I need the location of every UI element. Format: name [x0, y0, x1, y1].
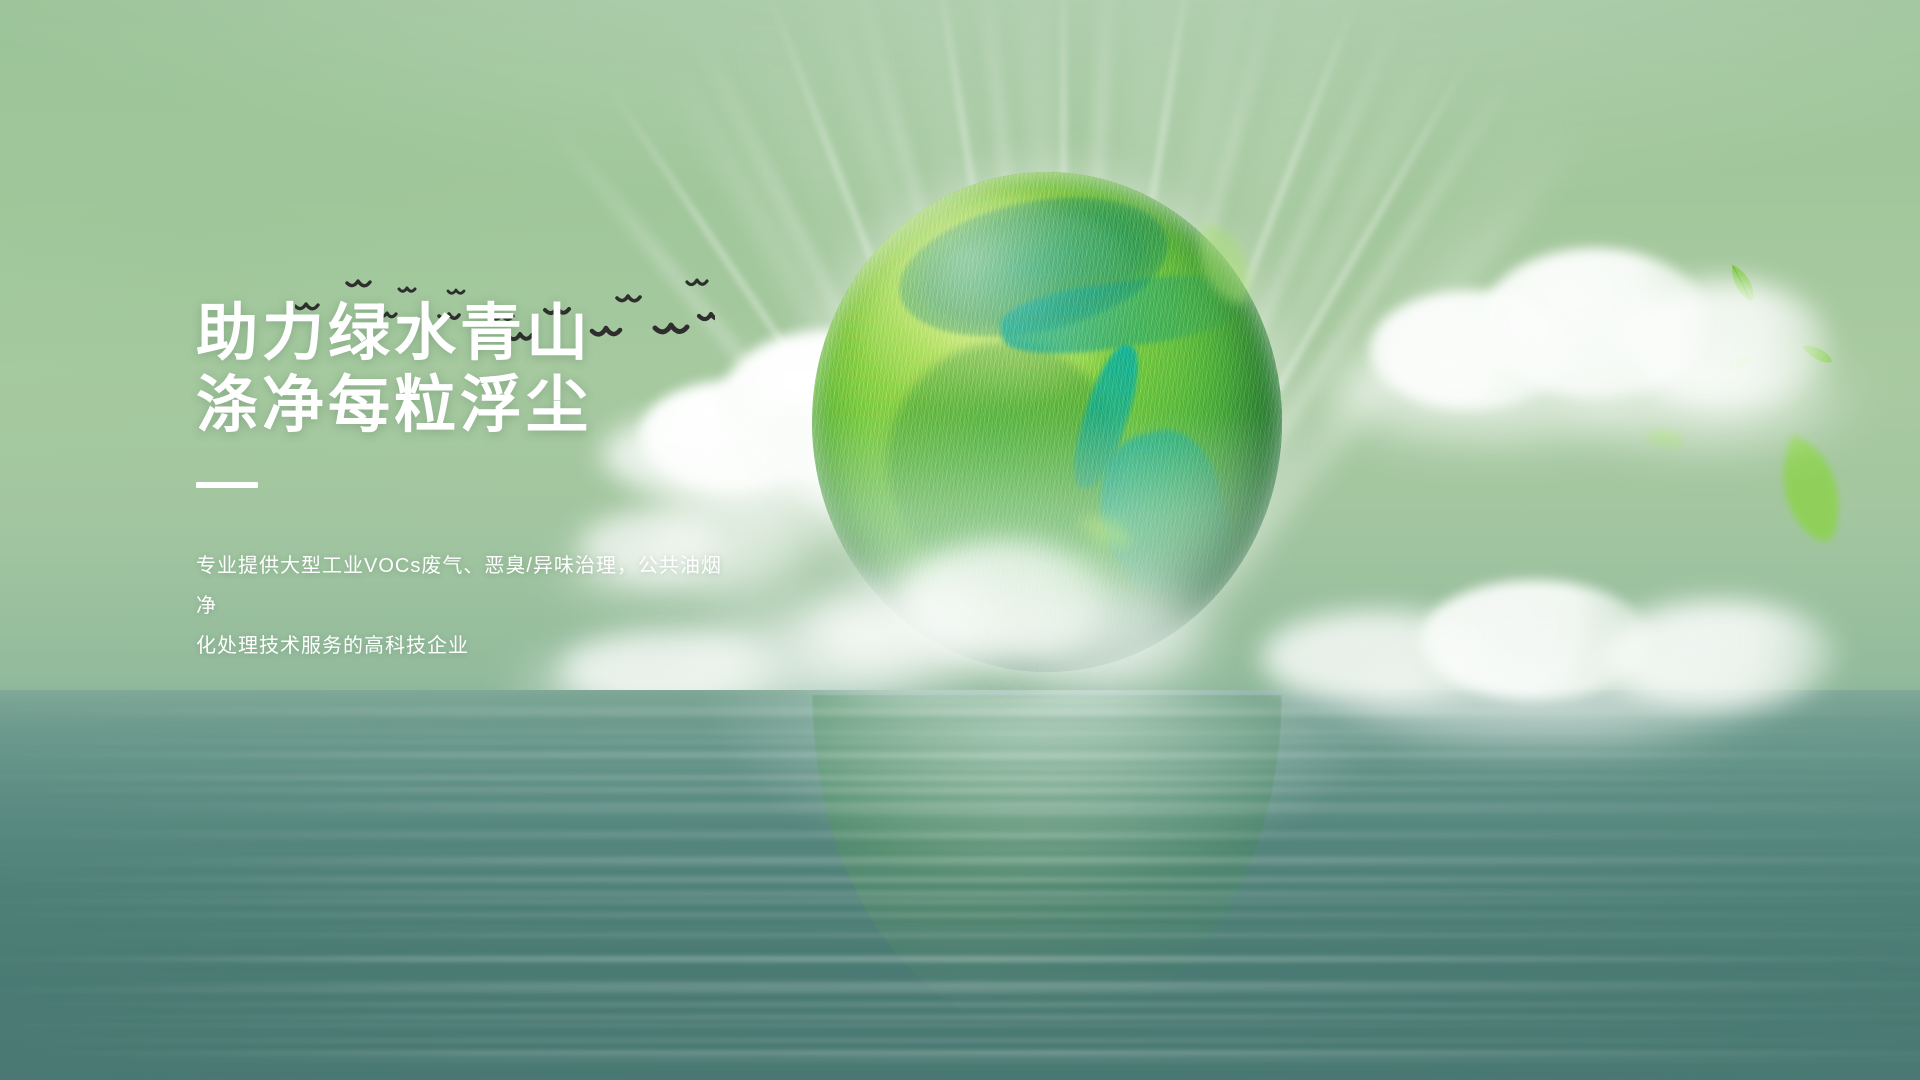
- water-wave-line: [0, 927, 1920, 929]
- water-wave-line: [0, 877, 1920, 882]
- water-wave-line: [0, 842, 1920, 847]
- water-wave-line: [38, 895, 1920, 897]
- water-reflection: [0, 690, 1920, 1080]
- water-wave-line: [38, 808, 1920, 813]
- headline-line-1: 助力绿水青山: [196, 298, 836, 370]
- water-wave-line: [0, 803, 1920, 806]
- water-wave-line: [0, 1050, 1920, 1056]
- water-wave-line: [0, 800, 1920, 802]
- headline-line-2: 涤净每粒浮尘: [196, 370, 836, 442]
- water-wave-line: [0, 913, 1920, 918]
- hero-description: 专业提供大型工业VOCs废气、恶臭/异味治理，公共油烟净 化处理技术服务的高科技…: [196, 546, 736, 666]
- white-divider-bar: [196, 482, 258, 488]
- water-wave-line: [0, 787, 1920, 793]
- water-wave-line: [0, 822, 1920, 828]
- reflection-ripple: [812, 766, 1282, 772]
- falling-leaf-5: [1722, 349, 1757, 377]
- water-wave-line: [38, 857, 1920, 863]
- description-line-2: 化处理技术服务的高科技企业: [196, 626, 736, 666]
- falling-leaf-7-blurred: [1643, 422, 1687, 455]
- water-wave-line: [0, 1003, 1920, 1006]
- water-wave-line: [0, 717, 1920, 723]
- grass-earth-globe: [812, 172, 1282, 672]
- water-wave-line: [0, 752, 1920, 758]
- falling-leaf-4: [1524, 347, 1562, 376]
- reflection-ripple: [812, 732, 1282, 738]
- water-wave-line: [38, 731, 1920, 733]
- water-wave-line: [0, 948, 1920, 953]
- water-wave-line: [0, 900, 1920, 903]
- water-wave-line: [0, 968, 1920, 971]
- water-wave-line: [0, 867, 1920, 870]
- water-wave-line: [0, 864, 1920, 866]
- cloud-right-large: [1330, 220, 1850, 470]
- water-wave-line: [0, 743, 1920, 748]
- water-wave-line: [0, 696, 1920, 698]
- reflection-ripple: [812, 1026, 1282, 1032]
- hero-copy-block: 助力绿水青山 涤净每粒浮尘 专业提供大型工业VOCs废气、恶臭/异味治理，公共油…: [196, 298, 836, 666]
- falling-leaf-2: [1798, 339, 1836, 369]
- water-wave-line: [0, 958, 1920, 960]
- eco-hero-banner: 助力绿水青山 涤净每粒浮尘 专业提供大型工业VOCs废气、恶臭/异味治理，公共油…: [0, 0, 1920, 1080]
- water-wave-line: [38, 933, 1920, 936]
- description-line-1: 专业提供大型工业VOCs废气、恶臭/异味治理，公共油烟净: [196, 546, 736, 626]
- falling-leaf-1: [1722, 259, 1761, 306]
- water-wave-line: [0, 712, 1920, 717]
- water-wave-line: [0, 1039, 1920, 1042]
- water-wave-line: [0, 1024, 1920, 1026]
- water-wave-line: [0, 775, 1920, 780]
- water-wave-line: [0, 835, 1920, 838]
- reflection-ripple: [812, 699, 1282, 705]
- water-wave-line: [38, 1059, 1920, 1061]
- water-wave-line: [0, 708, 1920, 711]
- water-wave-line: [0, 832, 1920, 834]
- water-wave-line: [38, 982, 1920, 987]
- water-wave-line: [0, 1073, 1920, 1076]
- falling-leaf-3: [1478, 345, 1537, 400]
- falling-leaf-6-blurred: [1743, 420, 1875, 557]
